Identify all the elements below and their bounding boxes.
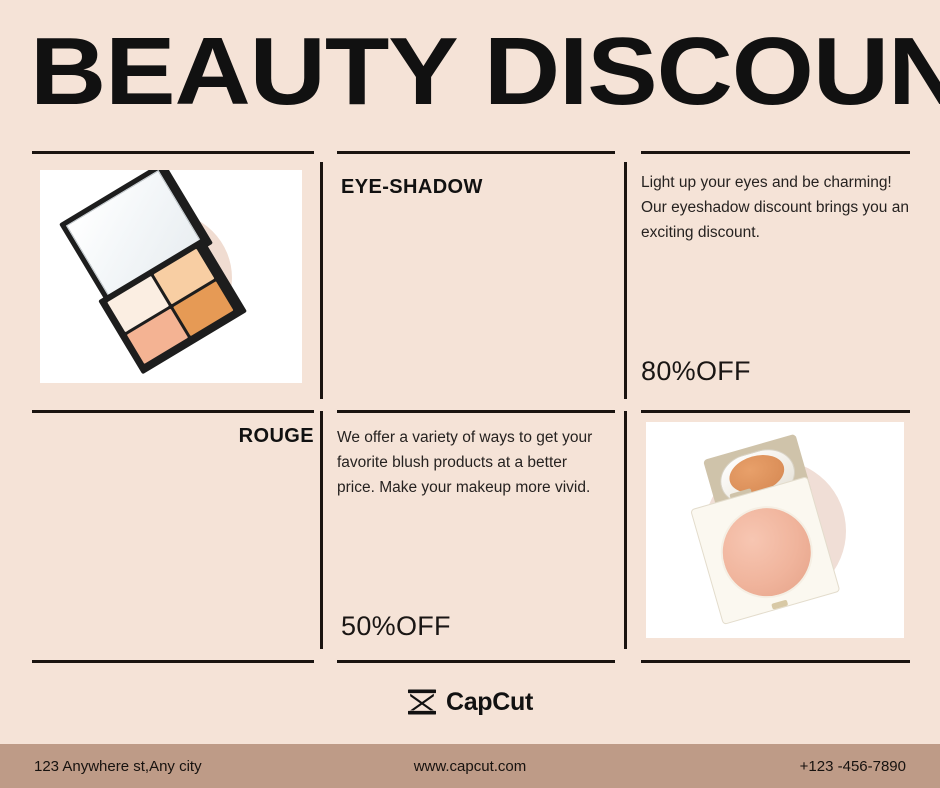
rouge-product-image (646, 422, 904, 638)
discount-badge-eye-shadow: 80%OFF (641, 356, 751, 387)
divider-row2-bottom-left (32, 660, 314, 663)
section-description-eye-shadow: Light up your eyes and be charming! Our … (641, 170, 909, 245)
section-heading-eye-shadow: EYE-SHADOW (341, 176, 613, 199)
discount-badge-rouge: 50%OFF (341, 611, 451, 642)
divider-vertical-row1-second (624, 162, 627, 399)
capcut-logo-icon (407, 689, 437, 715)
divider-row1-bottom-center (337, 410, 615, 413)
divider-row1-top-center (337, 151, 615, 154)
divider-vertical-row2-first (320, 411, 323, 649)
eyeshadow-palette-illustration (54, 170, 250, 371)
brand-logo: CapCut (0, 684, 940, 720)
divider-row2-bottom-right (641, 660, 910, 663)
divider-vertical-row1-first (320, 162, 323, 399)
footer-phone: +123 -456-7890 (800, 758, 906, 775)
brand-name: CapCut (446, 688, 533, 717)
section-heading-rouge: ROUGE (36, 425, 314, 448)
divider-row1-top-left (32, 151, 314, 154)
blush-compact-illustration (678, 431, 850, 625)
divider-row1-bottom-right (641, 410, 910, 413)
divider-row1-bottom-left (32, 410, 314, 413)
section-description-rouge: We offer a variety of ways to get your f… (337, 425, 609, 500)
divider-vertical-row2-second (624, 411, 627, 649)
divider-row2-bottom-center (337, 660, 615, 663)
footer-bar: 123 Anywhere st,Any city www.capcut.com … (0, 744, 940, 788)
divider-row1-top-right (641, 151, 910, 154)
eyeshadow-product-image (40, 170, 302, 383)
page-title: BEAUTY DISCOUNT (30, 18, 940, 126)
